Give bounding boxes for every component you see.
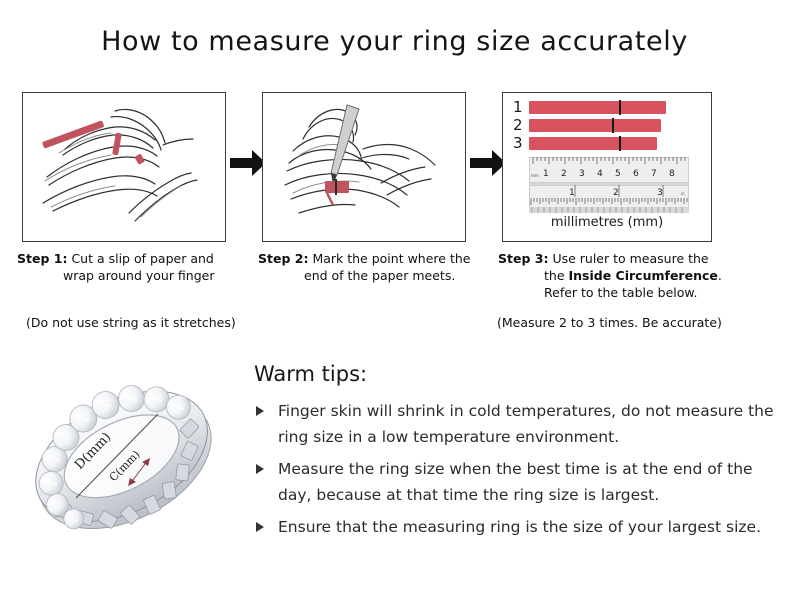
step-3-line2-prefix: the — [544, 268, 569, 283]
strip-number-3: 3 — [513, 137, 529, 150]
paper-strip-on-finger — [325, 179, 349, 205]
ruler-illustration: 1 2 3 4 5 6 7 8 mm 1 2 3 — [529, 157, 689, 213]
warm-tips-title: Warm tips: — [254, 362, 774, 386]
tip-text: Measure the ring size when the best time… — [278, 460, 753, 504]
strip-mark-3 — [619, 136, 621, 151]
step-3-line2-suffix: . — [718, 268, 722, 283]
svg-text:1: 1 — [569, 188, 575, 198]
svg-text:2: 2 — [561, 169, 567, 179]
step-1-illustration-panel — [22, 92, 226, 242]
step-2-caption: Step 2: Mark the point where the end of … — [258, 250, 493, 284]
page-title: How to measure your ring size accurately — [0, 26, 789, 57]
paper-strip-1 — [529, 101, 666, 114]
svg-text:6: 6 — [633, 169, 639, 179]
svg-text:mm: mm — [531, 173, 539, 178]
svg-text:1: 1 — [543, 169, 549, 179]
ring-diagram: D(mm) C(mm) — [18, 352, 228, 567]
svg-text:8: 8 — [669, 169, 675, 179]
step-1-line1: Cut a slip of paper and — [71, 251, 213, 266]
strip-mark-1 — [619, 100, 621, 115]
step-2-lead: Step 2: — [258, 251, 308, 266]
step-3-lead: Step 3: — [498, 251, 548, 266]
step-1-note: (Do not use string as it stretches) — [26, 315, 236, 330]
step-3-line3: Refer to the table below. — [498, 284, 748, 301]
step-2-illustration-panel — [262, 92, 466, 242]
bullet-triangle-icon — [256, 406, 264, 416]
svg-text:3: 3 — [579, 169, 585, 179]
svg-text:3: 3 — [657, 188, 663, 198]
paper-strip-3 — [529, 137, 657, 150]
bullet-triangle-icon — [256, 522, 264, 532]
step-1-caption: Step 1: Cut a slip of paper and wrap aro… — [17, 250, 252, 284]
inside-circumference-emphasis: Inside Circumference — [569, 268, 718, 283]
step-2-line2: end of the paper meets. — [258, 267, 493, 284]
measured-strip-row-3: 3 — [513, 137, 657, 150]
strip-number-2: 2 — [513, 119, 529, 132]
tip-item: Ensure that the measuring ring is the si… — [254, 514, 774, 540]
svg-text:in: in — [681, 191, 685, 196]
tip-item: Finger skin will shrink in cold temperat… — [254, 398, 774, 450]
svg-text:2: 2 — [613, 188, 619, 198]
tip-item: Measure the ring size when the best time… — [254, 456, 774, 508]
step-3-line1: Use ruler to measure the — [552, 251, 708, 266]
measured-strip-row-2: 2 — [513, 119, 661, 132]
ruler-unit-caption: millimetres (mm) — [503, 215, 711, 230]
step-3-caption: Step 3: Use ruler to measure the the Ins… — [498, 250, 748, 301]
step-1-line2: wrap around your finger — [17, 267, 252, 284]
step-3-line2: the Inside Circumference. — [498, 267, 748, 284]
measured-strip-row-1: 1 — [513, 101, 666, 114]
svg-text:4: 4 — [597, 169, 603, 179]
strip-number-1: 1 — [513, 101, 529, 114]
bullet-triangle-icon — [256, 464, 264, 474]
warm-tips-section: Warm tips: Finger skin will shrink in co… — [254, 362, 774, 546]
strip-mark-2 — [612, 118, 614, 133]
tip-text: Finger skin will shrink in cold temperat… — [278, 402, 774, 446]
step-3-illustration-panel: 1 2 3 1 — [502, 92, 712, 242]
step-1-lead: Step 1: — [17, 251, 67, 266]
hand-marking-paper-drawing — [263, 93, 465, 241]
svg-text:7: 7 — [651, 169, 657, 179]
paper-strip-2 — [529, 119, 661, 132]
steps-row: 1 2 3 1 — [0, 92, 789, 342]
hand-with-paper-slip-drawing — [23, 93, 225, 241]
svg-text:5: 5 — [615, 169, 621, 179]
tip-text: Ensure that the measuring ring is the si… — [278, 518, 761, 536]
step-3-note: (Measure 2 to 3 times. Be accurate) — [497, 315, 722, 330]
step-2-line1: Mark the point where the — [312, 251, 470, 266]
